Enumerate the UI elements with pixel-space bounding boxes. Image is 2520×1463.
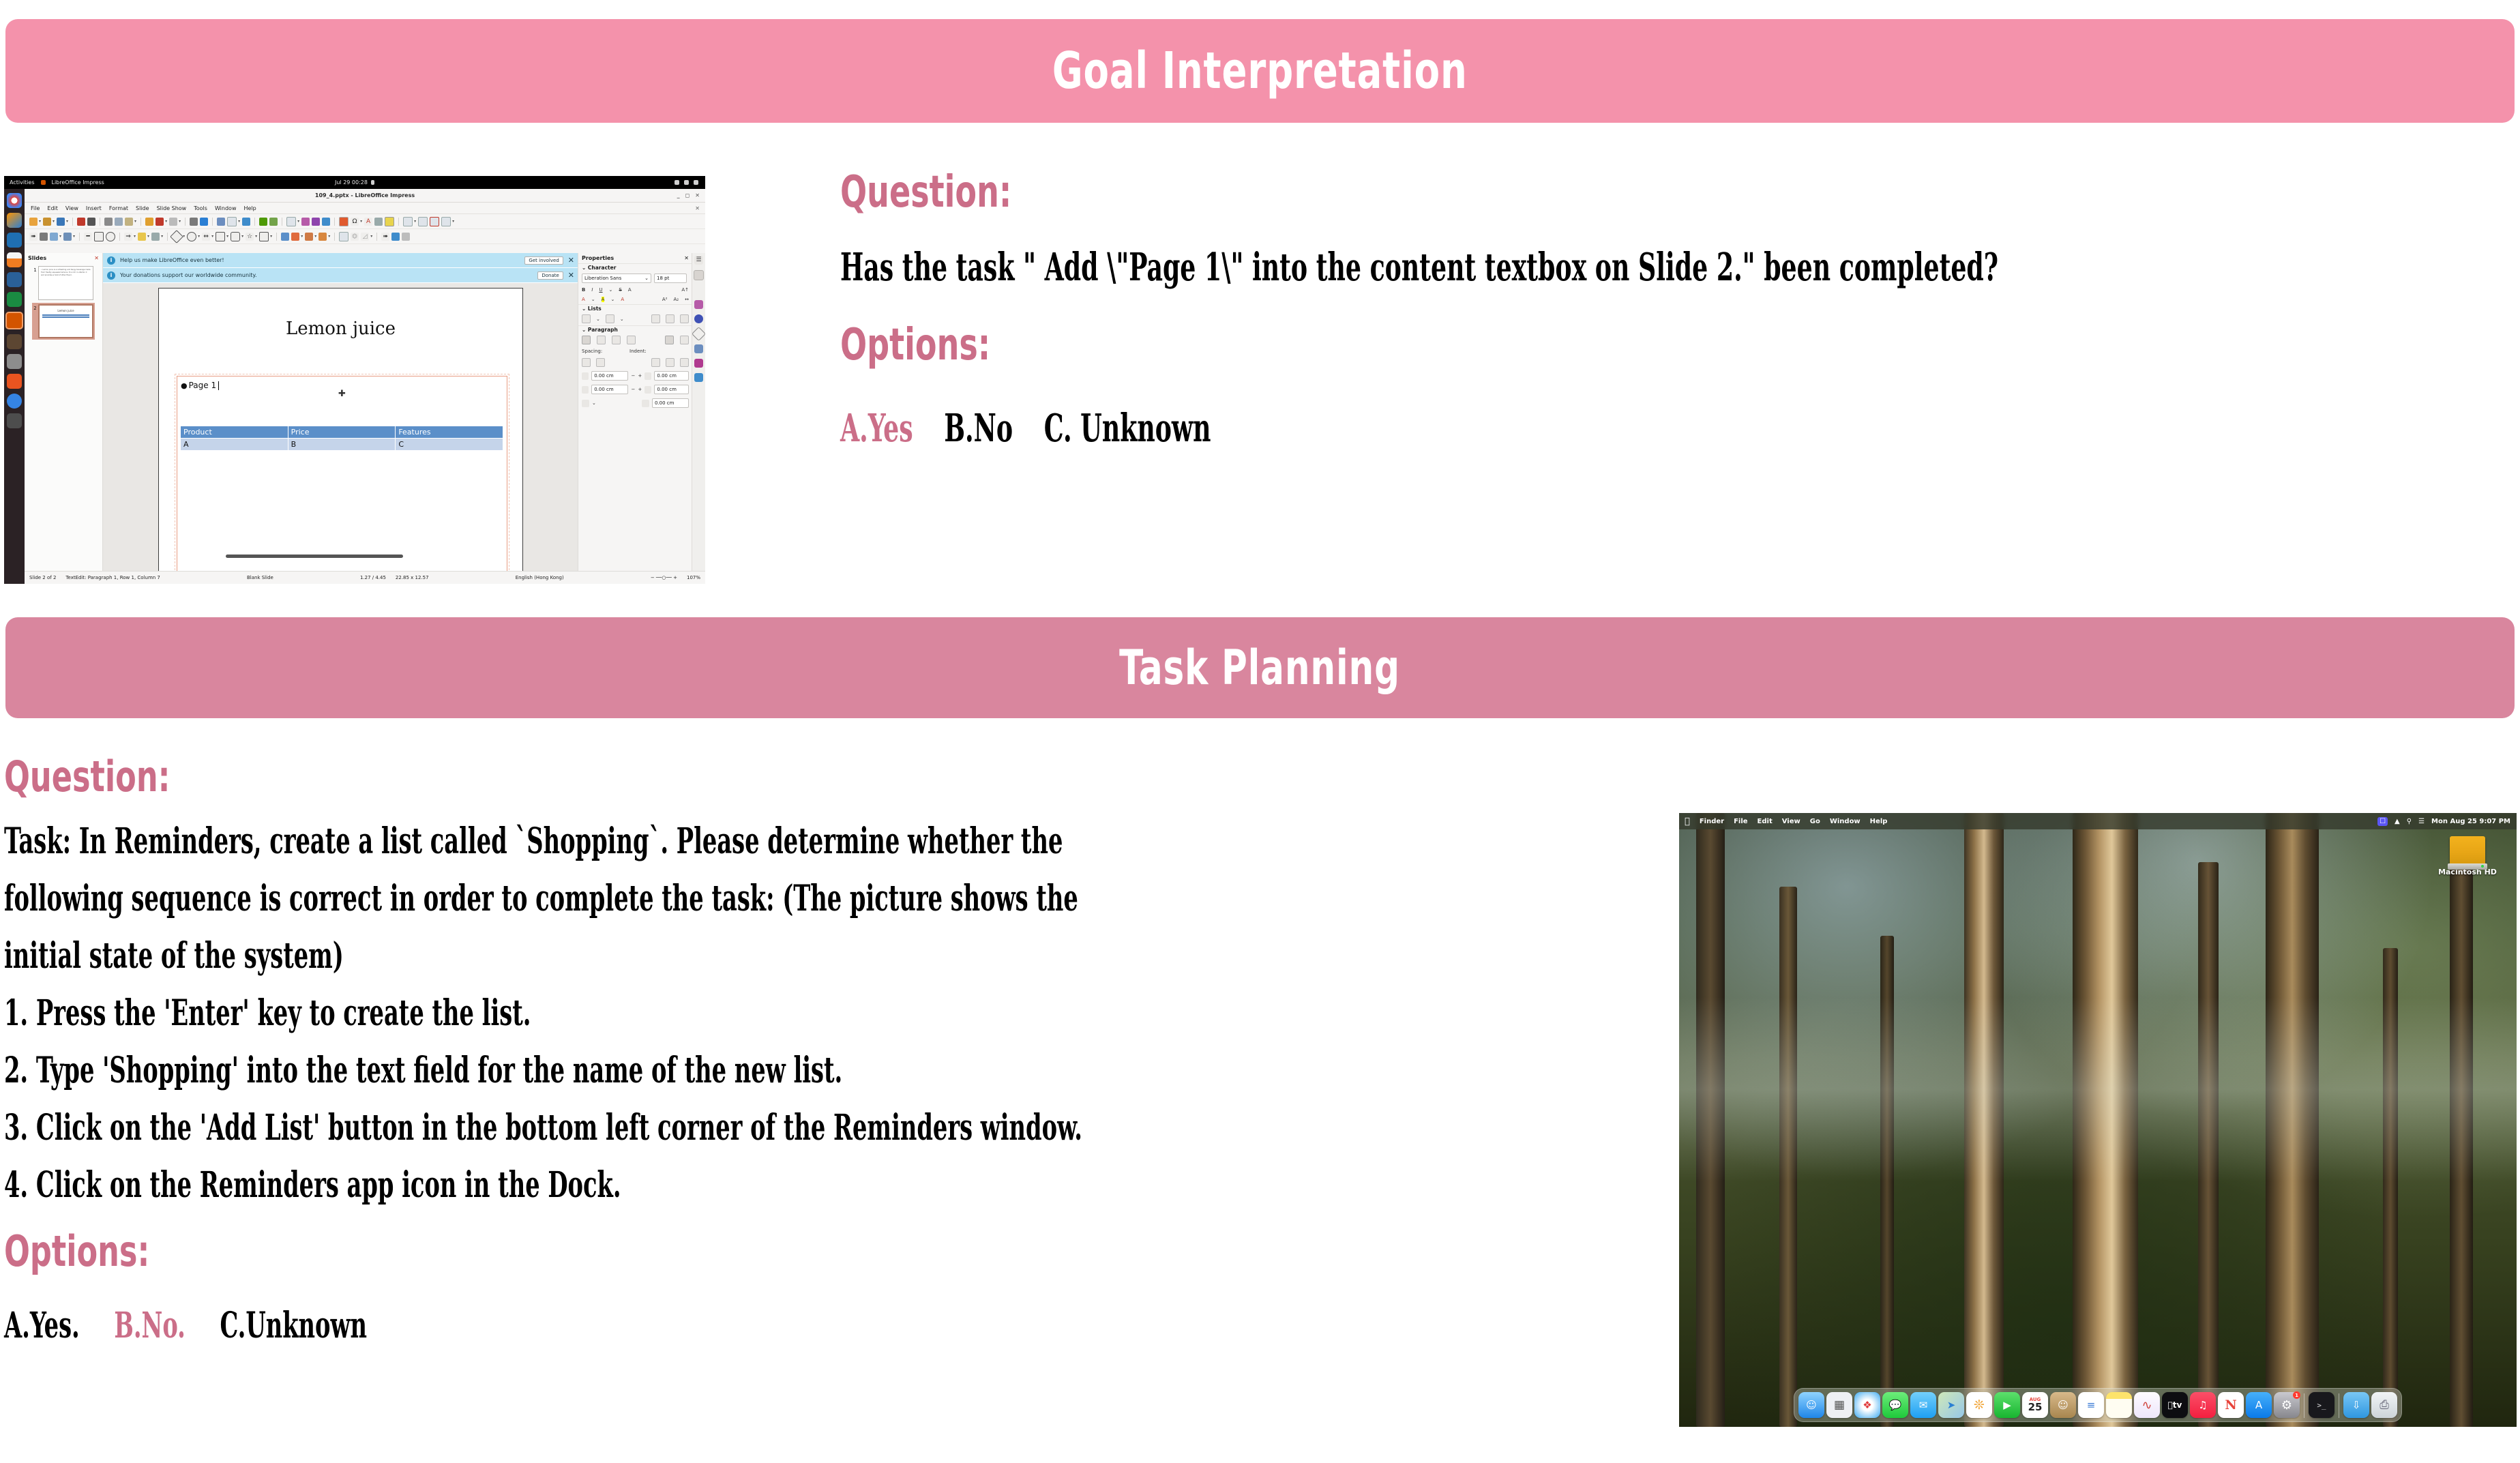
goal-options-label: Options: [840,323,2171,376]
properties-section-lists[interactable]: ⌄ Lists [578,304,692,312]
drawing-toolbar: ➠ ▾ ▾ ━ ⇒▾ ▾ ▾ ▾ ▾ ⇔▾ ▾ ▾ ☆▾ ▾ ▾ ▾ ▾ [25,229,705,244]
paragraph-align-row [578,334,692,346]
menu-item-edit[interactable]: Edit [47,205,58,211]
goal-question-label: Question: [840,171,2171,224]
decrease-indent-icon[interactable] [666,358,675,367]
spacing-below-decrement[interactable]: − [631,387,635,392]
forest-fog-layer [1679,997,2517,1181]
properties-section-paragraph[interactable]: ⌄ Paragraph [578,325,692,334]
spacing-below-field[interactable]: 0.00 cm [591,385,628,394]
task-option-b[interactable]: B.No. [114,1308,186,1344]
dock-icon-vlc[interactable] [7,252,22,267]
flowchart-icon[interactable] [216,232,225,241]
macos-dock: ☺ ▦ ❖ 💬 ✉ ➤ ❊ ▶ AUG 25 ☺ ≡ ∿ tv ♫ N A ⚙… [1794,1388,2402,1422]
align-right-icon[interactable] [612,336,621,344]
new-comment-icon[interactable] [403,217,413,226]
indent-label: Indent: [629,349,647,354]
sidebar-settings-icon[interactable]: ☰ [694,256,703,265]
dock-icon-downloads[interactable]: ⇩ [2343,1392,2369,1418]
slides-panel-title: Slides [28,255,46,261]
dock-icon-facetime[interactable]: ▶ [1994,1392,2020,1418]
infobar-feedback-message: Help us make LibreOffice even better! [120,257,224,263]
export-pdf-icon[interactable] [77,218,85,226]
clone-formatting-icon[interactable] [145,218,153,226]
indent-first-icon [642,400,649,407]
maximize-button[interactable]: ◻ [685,192,690,198]
insert-media-icon[interactable] [322,218,330,226]
info-icon: i [107,271,115,280]
task-planning-banner-title: Task Planning [1120,640,1401,696]
spacing-indent-icons-row [578,356,692,369]
desktop-icon-macintosh-hd[interactable]: Macintosh HD [2436,836,2499,876]
slide-table[interactable]: Product Price Features A B C [180,426,503,451]
master-handout-icon[interactable] [441,217,451,226]
filter-icon[interactable]: ◿ [361,233,369,241]
menu-item-help[interactable]: Help [243,205,256,211]
gnome-top-bar: Activities LibreOffice Impress Jul 29 00… [4,176,705,189]
spacing-above-decrement[interactable]: − [631,373,635,379]
dock-icon-podcasts[interactable]: ∿ [2134,1392,2160,1418]
fontwork-icon[interactable]: A [364,218,372,226]
align-center-icon[interactable] [597,336,606,344]
save-icon[interactable] [57,218,65,226]
line-spacing-chevron-icon[interactable]: ⌄ [592,400,596,406]
promote-icon[interactable] [666,314,675,323]
menu-item-slideshow[interactable]: Slide Show [157,205,187,211]
find-replace-icon[interactable] [190,218,198,226]
slide-1-placeholder-text: • Lemon juice is a refreshing and tangy … [41,269,91,277]
libreoffice-window: 109_4.pptx - LibreOffice Impress _ ◻ ✕ F… [25,189,705,584]
clear-formatting-icon[interactable]: A [621,297,624,302]
ordered-list-icon[interactable] [606,314,614,323]
task-question-line-1: Task: In Reminders, create a list called… [4,824,1198,863]
dock-separator [2339,1393,2339,1418]
menu-item-insert[interactable]: Insert [86,205,102,211]
sidebar-tab-rail: ☰ [692,253,705,572]
dock-separator [2304,1393,2304,1418]
stars-icon[interactable]: ☆ [246,233,254,241]
volume-icon[interactable] [684,180,689,185]
sidebar-tab-slide-transition[interactable] [694,373,703,382]
curve-icon[interactable] [138,233,146,241]
slide-thumbnail-table-mini [42,314,89,318]
arrow-icon[interactable]: ⇒ [124,233,132,241]
table-header-price: Price [288,426,396,439]
donate-button[interactable]: Donate [537,271,563,280]
sidebar-tab-gallery[interactable] [694,300,703,309]
font-size-field[interactable]: 18 pt [654,274,687,283]
macos-desktop-screenshot:  Finder File Edit View Go Window Help ☐… [1679,813,2517,1427]
slide-thumbnail-preview: • Lemon juice is a refreshing and tangy … [38,266,93,300]
screen-mirroring-icon[interactable]: ☐ [2377,817,2388,826]
properties-sidebar: Properties ✕ ⌄ Character Liberation Sans… [578,253,692,572]
slide-thumbnail-number: 2 [32,304,38,311]
dock-icon-launchpad[interactable]: ▦ [1826,1392,1852,1418]
spacing-below-icon [582,386,589,394]
table-header-row: Product Price Features [181,426,503,439]
symbol-shapes-icon[interactable] [187,232,196,241]
hanging-indent-icon[interactable] [680,358,689,367]
show-draw-functions-icon[interactable] [385,217,394,226]
toggle-extrusion-icon[interactable] [402,233,410,241]
spacing-above-field[interactable]: 0.00 cm [591,371,628,381]
decrease-spacing-icon[interactable] [596,358,605,367]
spacing-above-icon [582,372,589,380]
bell-icon [371,180,374,185]
dock-icon-app-store[interactable]: A [2246,1392,2272,1418]
dock-icon-calc[interactable] [7,292,22,307]
dock-icon-music[interactable]: ♫ [2190,1392,2216,1418]
slide-thumbnail-number: 1 [32,266,38,273]
indent-first-value: 0.00 cm [655,400,674,406]
task-question-line-2: following sequence is correct in order t… [4,881,1198,921]
rectangle-icon[interactable] [94,232,104,241]
ubuntu-left-dock [4,189,25,584]
copy-icon[interactable] [115,218,123,226]
settings-badge: 1 [2293,1391,2300,1399]
print-icon[interactable] [87,218,95,226]
goal-option-b[interactable]: B.No [944,409,1013,447]
new-slide-icon[interactable] [259,218,267,226]
search-icon[interactable]: ⚲ [2407,818,2412,825]
task-question-label: Question: [4,756,1330,806]
basic-shapes-icon[interactable] [170,230,183,243]
infobar-donate: i Your donations support our worldwide c… [103,268,578,283]
properties-title: Properties [582,255,614,261]
spacing-below-increment[interactable]: + [638,387,642,392]
goal-interpretation-text-column: Question: Has the task " Add \"Page 1\" … [840,171,2504,454]
slides-panel-header: Slides ✕ [25,253,102,263]
move-cursor-icon: ✚ [338,389,346,399]
close-button[interactable]: ✕ [695,192,700,198]
fill-color-icon[interactable] [50,233,58,241]
table-cell-b[interactable]: B [288,439,396,451]
gnome-app-name[interactable]: LibreOffice Impress [52,179,104,186]
menubar-item-window[interactable]: Window [1830,818,1861,825]
menubar-clock[interactable]: Mon Aug 25 9:07 PM [2431,818,2510,825]
font-color-chevron-icon[interactable]: ⌄ [591,297,595,302]
task-options-label: Options: [4,1230,1330,1281]
increase-indent-icon[interactable] [651,358,660,367]
underline-chevron-icon[interactable]: ⌄ [609,287,613,293]
underline-icon[interactable]: U [599,287,602,293]
dock-icon-apple-tv[interactable]: tv [2162,1392,2188,1418]
goal-option-c[interactable]: C. Unknown [1044,409,1211,447]
crop-icon[interactable]: ⏣ [351,233,359,241]
hyperlink-icon[interactable] [374,218,383,226]
slides-panel-close-icon[interactable]: ✕ [94,255,99,261]
connector-icon[interactable] [151,233,160,241]
status-slide-count: Slide 2 of 2 [25,575,61,580]
horizontal-scrollbar[interactable] [226,555,403,558]
dock-icon-mail[interactable]: ✉ [1910,1392,1936,1418]
special-character-icon[interactable]: Ω [351,218,359,226]
indent-first-field[interactable]: 0.00 cm [652,398,689,408]
3d-objects-icon[interactable] [259,232,269,241]
master-slide-icon[interactable] [227,217,237,226]
document-close-icon[interactable]: ✕ [695,205,700,211]
goal-question-text: Has the task " Add \"Page 1\" into the c… [840,248,2039,293]
spelling-icon[interactable] [200,218,208,226]
select-icon[interactable]: ➠ [29,233,38,241]
spacing-below-value: 0.00 cm [594,387,613,392]
table-row: A B C [181,439,503,451]
chevron-down-icon[interactable]: ⌄ [644,276,649,281]
indent-after-value: 0.00 cm [657,387,676,392]
dock-icon-vscode[interactable] [7,233,22,248]
cut-icon[interactable] [104,218,113,226]
strikethrough-icon[interactable]: S [619,287,621,293]
align-objects-icon[interactable] [291,233,299,241]
standard-toolbar: ▾ ▾ ▾ ▾ ▾ ▾ ▾ ▾ [25,214,705,229]
dock-icon-messages[interactable]: 💬 [1882,1392,1908,1418]
dock-icon-trash[interactable]: ⎙ [2371,1392,2397,1418]
properties-section-character[interactable]: ⌄ Character [578,263,692,271]
libreoffice-statusbar: Slide 2 of 2 TextEdit: Paragraph 1, Row … [25,571,705,584]
spacing-above-value: 0.00 cm [594,373,613,379]
insert-textbox-icon[interactable] [339,217,349,226]
sidebar-tab-navigator[interactable] [694,314,703,323]
subscript-icon[interactable]: A₂ [674,297,679,302]
slide-title-textbox[interactable]: Lemon juice [159,319,522,339]
spacing-above-increment[interactable]: + [638,373,642,379]
rotate-icon[interactable] [281,233,289,241]
dock-icon-contacts[interactable]: ☺ [2050,1392,2076,1418]
goal-option-a[interactable]: A.Yes [840,409,913,447]
libreoffice-window-title: 109_4.pptx - LibreOffice Impress [315,192,415,198]
shadow-icon[interactable] [339,232,349,241]
properties-close-icon[interactable]: ✕ [684,255,689,261]
task-step-4: 4. Click on the Reminders app icon in th… [4,1168,1198,1207]
spacing-above-row: 0.00 cm − + 0.00 cm [578,369,692,383]
info-icon: i [107,256,115,265]
section-label-paragraph: Paragraph [588,327,618,333]
show-comments-icon[interactable] [418,217,428,226]
task-option-c[interactable]: C.Unknown [220,1308,367,1344]
character-spacing-icon[interactable]: ↔ [685,297,689,302]
spacing-below-row: 0.00 cm − + 0.00 cm [578,383,692,396]
duplicate-slide-icon[interactable] [269,218,278,226]
unordered-list-chevron-icon[interactable]: ⌄ [596,316,600,322]
infobar-donate-message: Your donations support our worldwide com… [120,272,257,278]
dock-icon-safari[interactable]: ❖ [1854,1392,1880,1418]
slide-canvas[interactable]: Lemon juice ● Page 1 ✚ Product Price [158,288,523,572]
slide-thumbnail-preview: Lemon juice [38,304,93,338]
spacing-indent-labels-row: Spacing: Indent: [578,346,692,356]
dock-icon-trash[interactable] [7,413,22,428]
menu-item-view[interactable]: View [65,205,78,211]
sidebar-tab-animation[interactable] [694,359,703,368]
infobar-donate-close-icon[interactable]: ✕ [568,271,574,280]
sidebar-tab-styles[interactable] [694,286,703,295]
dock-icon-news[interactable]: N [2218,1392,2244,1418]
table-header-product: Product [181,426,288,439]
menubar-item-help[interactable]: Help [1870,818,1888,825]
dock-icon-reminders[interactable]: ≡ [2078,1392,2104,1418]
dock-icon-writer[interactable] [7,272,22,287]
task-option-a[interactable]: A.Yes. [4,1308,80,1344]
indent-after-icon [644,386,651,394]
gnome-activities-label[interactable]: Activities [10,179,35,186]
delete-comment-icon[interactable] [430,217,439,226]
increase-size-icon[interactable]: A↑ [681,287,689,293]
macos-menubar:  Finder File Edit View Go Window Help ☐… [1679,813,2517,829]
font-row: Liberation Sans ⌄ 18 pt [578,271,692,285]
slide-thumbnail-2[interactable]: 2 Lemon juice [32,303,95,340]
control-center-icon[interactable]: ☰ [2418,818,2425,825]
font-size-value: 18 pt [657,276,669,281]
distribute-icon[interactable] [318,233,327,241]
paste-icon[interactable] [125,218,133,226]
insert-image-icon[interactable] [301,218,310,226]
get-involved-button[interactable]: Get involved [524,256,563,265]
align-justify-icon[interactable] [627,336,636,344]
bold-icon[interactable]: B [582,287,585,293]
sidebar-tab-master-slides[interactable] [694,344,703,353]
minimize-button[interactable]: _ [677,192,680,198]
dock-icon-maps[interactable]: ➤ [1938,1392,1964,1418]
task-step-1: 1. Press the 'Enter' key to create the l… [4,996,1198,1035]
bullet-icon: ● [181,382,188,389]
status-edit-state: TextEdit: Paragraph 1, Row 1, Column 7 [61,575,164,580]
libreoffice-titlebar: 109_4.pptx - LibreOffice Impress _ ◻ ✕ [25,189,705,203]
section-label-character: Character [588,265,616,271]
align-middle-icon[interactable] [680,336,689,344]
font-name-value: Liberation Sans [584,276,621,281]
zoom-slider[interactable]: − ──○── + [646,575,682,580]
menu-item-slide[interactable]: Slide [136,205,149,211]
slide-thumbnail-title: Lemon juice [40,309,92,312]
status-language: English (Hong Kong) [511,575,569,580]
task-question-line-3: initial state of the system) [4,939,1198,978]
dock-icon-impress[interactable] [5,312,23,329]
line-spacing-row: ⌄ 0.00 cm [578,396,692,410]
status-zoom: 107% [682,575,705,580]
power-icon[interactable] [694,180,698,185]
menu-item-file[interactable]: File [31,205,40,211]
task-options-list: A.Yes. B.No. C.Unknown [4,1308,1198,1348]
menu-item-format[interactable]: Format [109,205,128,211]
dock-icon-help[interactable] [7,394,22,409]
demote-icon[interactable] [651,314,660,323]
slide-content-textbox[interactable]: ● Page 1 ✚ Product Price Features [177,376,507,572]
status-size: 22.85 x 12.57 [391,575,434,580]
indent-before-field[interactable]: 0.00 cm [654,371,689,381]
network-icon[interactable] [675,180,679,185]
highlight-chevron-icon[interactable]: ⌄ [610,297,614,302]
libreoffice-menubar: File Edit View Insert Format Slide Slide… [25,203,705,214]
slide-canvas-wrapper: Lemon juice ● Page 1 ✚ Product Price [103,282,578,572]
table-cell-c[interactable]: C [396,439,503,451]
menubar-item-view[interactable]: View [1782,818,1800,825]
dock-icon-gimp[interactable] [7,334,22,349]
slide-thumbnail-1[interactable]: 1 • Lemon juice is a refreshing and tang… [32,266,95,300]
ellipse-icon[interactable] [106,232,115,241]
drive-led-icon [2481,865,2484,868]
new-icon[interactable] [29,218,38,226]
callout-icon[interactable] [231,232,240,241]
dock-icon-calendar[interactable]: AUG 25 [2022,1392,2048,1418]
glue-points-icon[interactable] [391,233,400,241]
font-name-field[interactable]: Liberation Sans ⌄ [582,274,651,283]
move-down-icon[interactable] [680,314,689,323]
task-step-2: 2. Type 'Shopping' into the text field f… [4,1053,1198,1093]
indent-after-field[interactable]: 0.00 cm [654,385,689,394]
section-label-lists: Lists [588,306,602,312]
text-caret [218,381,219,390]
wifi-icon[interactable]: ▲ [2395,818,2400,825]
apple-logo-icon[interactable]:  [1685,816,1690,827]
dock-icon-system-settings[interactable]: ⚙ 1 [2274,1392,2300,1418]
content-bullet-line: ● Page 1 [181,381,219,390]
font-color-icon[interactable]: A [582,297,585,302]
menubar-item-finder[interactable]: Finder [1700,818,1724,825]
zoom-icon[interactable] [40,233,48,241]
align-left-icon[interactable] [582,336,591,344]
menubar-item-edit[interactable]: Edit [1758,818,1773,825]
arrange-icon[interactable] [305,233,313,241]
status-position: 1.27 / 4.45 [355,575,391,580]
menubar-item-go[interactable]: Go [1810,818,1820,825]
insert-line-icon[interactable]: ━ [84,233,92,241]
shadow-text-icon[interactable]: A [628,287,632,293]
sidebar-tab-properties[interactable] [694,270,704,280]
dock-icon-finder[interactable]: ☺ [1798,1392,1824,1418]
menubar-item-file[interactable]: File [1734,818,1747,825]
redo-icon[interactable] [169,218,177,226]
align-top-icon[interactable] [665,336,674,344]
undo-icon[interactable] [155,218,164,226]
increase-spacing-icon[interactable] [582,358,591,367]
dock-icon-firefox[interactable] [7,213,22,228]
open-icon[interactable] [43,218,51,226]
goal-options-list: A.Yes B.No C. Unknown [840,409,2039,454]
dock-icon-software[interactable] [7,374,22,389]
ordered-list-chevron-icon[interactable]: ⌄ [620,316,624,322]
infobar-feedback-close-icon[interactable]: ✕ [568,256,574,265]
italic-icon[interactable]: I [591,287,593,293]
display-views-icon[interactable] [217,218,225,226]
menu-item-window[interactable]: Window [215,205,237,211]
impress-app-icon [41,180,46,185]
dock-icon-notes[interactable] [2106,1392,2132,1418]
slide-editing-area: i Help us make LibreOffice even better! … [103,253,578,572]
dock-icon-files[interactable] [7,354,22,369]
line-spacing-icon[interactable] [582,400,589,407]
superscript-icon[interactable]: A² [662,297,668,302]
hard-drive-icon [2450,836,2485,865]
table-cell-a[interactable]: A [181,439,288,451]
dock-icon-terminal[interactable]: >_ [2309,1392,2334,1418]
content-bullet-text: Page 1 [189,381,217,390]
spacing-label: Spacing: [582,349,627,354]
unordered-list-icon[interactable] [582,314,591,323]
block-arrows-icon[interactable]: ⇔ [202,233,210,241]
insert-chart-icon[interactable] [312,218,320,226]
character-color-row: A ⌄ A ⌄ A A² A₂ ↔ [578,295,692,304]
dock-icon-photos[interactable]: ❊ [1966,1392,1992,1418]
dock-icon-chrome[interactable] [7,193,22,208]
line-color-icon[interactable] [63,233,72,241]
insert-table-icon[interactable] [286,217,296,226]
gnome-clock[interactable]: Jul 29 00:28 [335,179,368,186]
highlight-color-icon[interactable]: A [602,297,605,302]
status-layout: Blank Slide [242,575,278,580]
points-icon[interactable]: ➠ [381,233,389,241]
menu-item-tools[interactable]: Tools [194,205,207,211]
sidebar-tab-shapes[interactable] [692,327,705,341]
start-slideshow-icon[interactable] [242,218,250,226]
